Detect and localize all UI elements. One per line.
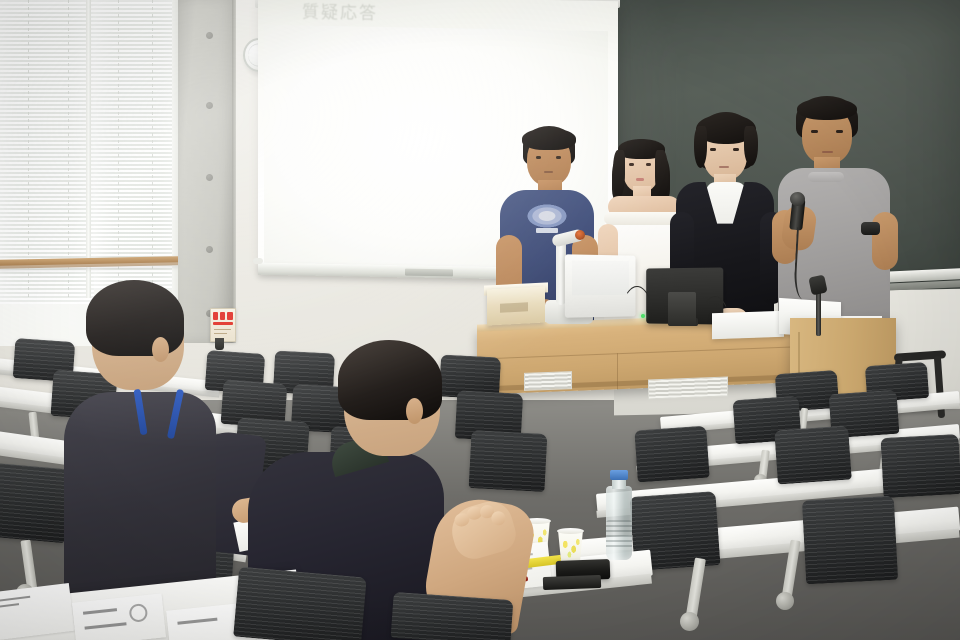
window-blinds <box>94 0 180 290</box>
chair[interactable] <box>774 425 852 484</box>
pillar-edge <box>232 0 236 343</box>
chair[interactable] <box>233 567 367 640</box>
slide-text: 質疑応答 <box>302 0 378 24</box>
white-monitor-screen <box>572 261 629 296</box>
document-camera-lens-icon <box>575 230 585 240</box>
concrete-pillar <box>178 0 234 343</box>
emergency-sign <box>210 308 236 342</box>
projection-screen-clip <box>405 269 453 277</box>
audience-1-ear <box>152 337 169 362</box>
audience-2-ear <box>406 398 423 424</box>
wrist-watch <box>861 222 880 235</box>
printed-handout[interactable] <box>0 583 75 640</box>
water-bottle-ribs <box>606 520 632 550</box>
pc-tower[interactable] <box>668 292 696 326</box>
white-av-unit <box>712 311 784 340</box>
printed-handout[interactable] <box>72 593 166 640</box>
smartphone[interactable] <box>543 575 601 590</box>
microphone-stand-pole[interactable] <box>816 288 821 336</box>
floor-vent <box>648 376 728 399</box>
blind-cord <box>28 0 29 300</box>
sign-bracket <box>215 338 224 350</box>
chair[interactable] <box>391 592 514 640</box>
chair[interactable] <box>802 496 898 585</box>
blind-cord <box>152 0 153 286</box>
microphone-stand-clip[interactable] <box>808 275 827 296</box>
paper-cup-rim <box>557 528 584 534</box>
projection-screen-roller <box>253 258 263 264</box>
audience-1-hair <box>86 280 184 356</box>
presenter-4-arm-right <box>872 212 898 270</box>
cardboard-box-label <box>500 302 528 312</box>
presenter-1-shirt-logo <box>525 203 569 229</box>
water-bottle-cap[interactable] <box>610 470 628 480</box>
floor-vent <box>524 371 572 391</box>
audience-2-hair <box>338 340 442 420</box>
blind-cord <box>118 0 119 288</box>
handout-circle-mark <box>128 603 148 623</box>
paper-cup[interactable] <box>558 530 583 564</box>
classroom-photo-scene: 質疑応答 <box>0 0 960 640</box>
chair[interactable] <box>0 463 71 544</box>
chair[interactable] <box>634 426 709 483</box>
blind-cord <box>68 0 69 300</box>
chair[interactable] <box>880 434 960 498</box>
window-mullion <box>86 0 91 298</box>
chair[interactable] <box>469 430 548 492</box>
